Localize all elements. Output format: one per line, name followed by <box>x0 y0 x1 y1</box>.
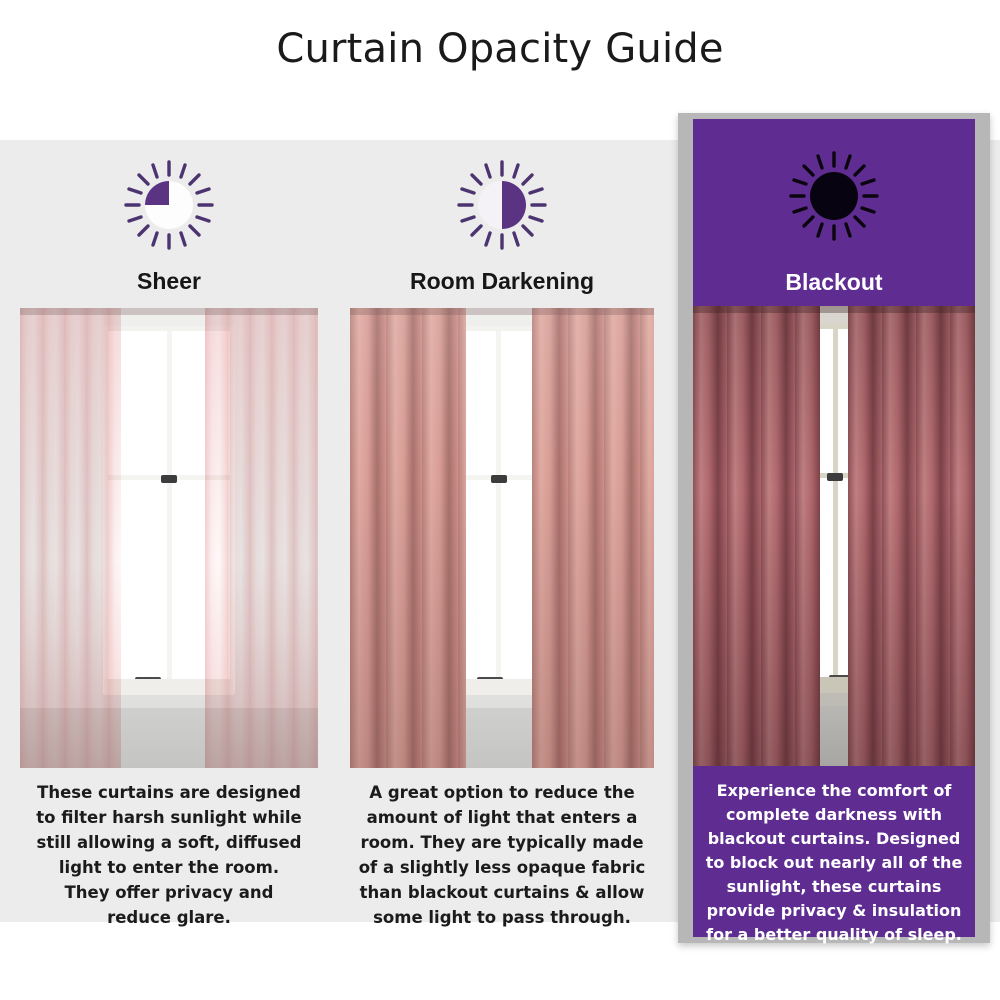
option-card-blackout[interactable]: Blackout Experience the comfort of compl… <box>693 119 975 937</box>
sun-half-filled-icon <box>456 159 548 251</box>
room-darkening-icon-wrap <box>350 150 654 260</box>
photo-blackout <box>693 306 975 766</box>
photo-room-darkening <box>350 308 654 768</box>
option-description-blackout: Experience the comfort of complete darkn… <box>693 779 975 947</box>
photo-sheer <box>20 308 318 768</box>
option-card-room-darkening[interactable]: Room Darkening A great option to reduce … <box>350 140 654 930</box>
option-description-room-darkening: A great option to reduce the amount of l… <box>350 780 654 930</box>
option-title-room-darkening: Room Darkening <box>350 268 654 295</box>
curtain-opacity-guide-page: Curtain Opacity Guide <box>0 0 1000 1000</box>
page-title: Curtain Opacity Guide <box>0 26 1000 72</box>
sun-quarter-filled-icon <box>123 159 215 251</box>
sheer-icon-wrap <box>18 150 320 260</box>
option-card-sheer[interactable]: Sheer These curtains are designed to fil… <box>18 140 320 930</box>
sun-full-filled-icon <box>788 150 880 242</box>
blackout-icon-wrap <box>693 141 975 251</box>
option-title-blackout: Blackout <box>693 269 975 296</box>
option-title-sheer: Sheer <box>18 268 320 295</box>
option-description-sheer: These curtains are designed to filter ha… <box>18 780 320 930</box>
